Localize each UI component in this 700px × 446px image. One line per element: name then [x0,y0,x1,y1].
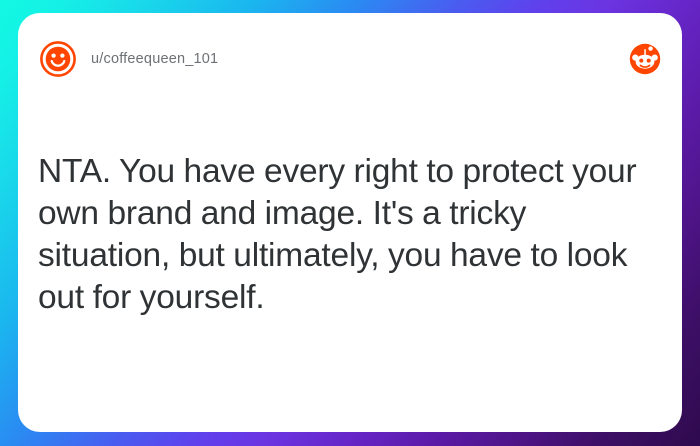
reddit-snoo-icon[interactable] [629,43,661,75]
post-author-username[interactable]: u/coffeequeen_101 [91,51,218,67]
screenshot-canvas: u/coffeequeen_101 NTA. You have every ri… [0,0,700,446]
post-header: u/coffeequeen_101 [39,34,661,84]
reddit-post-card: u/coffeequeen_101 NTA. You have every ri… [18,13,682,432]
smiley-face-avatar-icon[interactable] [39,40,77,78]
post-body-text: NTA. You have every right to protect you… [38,151,662,319]
